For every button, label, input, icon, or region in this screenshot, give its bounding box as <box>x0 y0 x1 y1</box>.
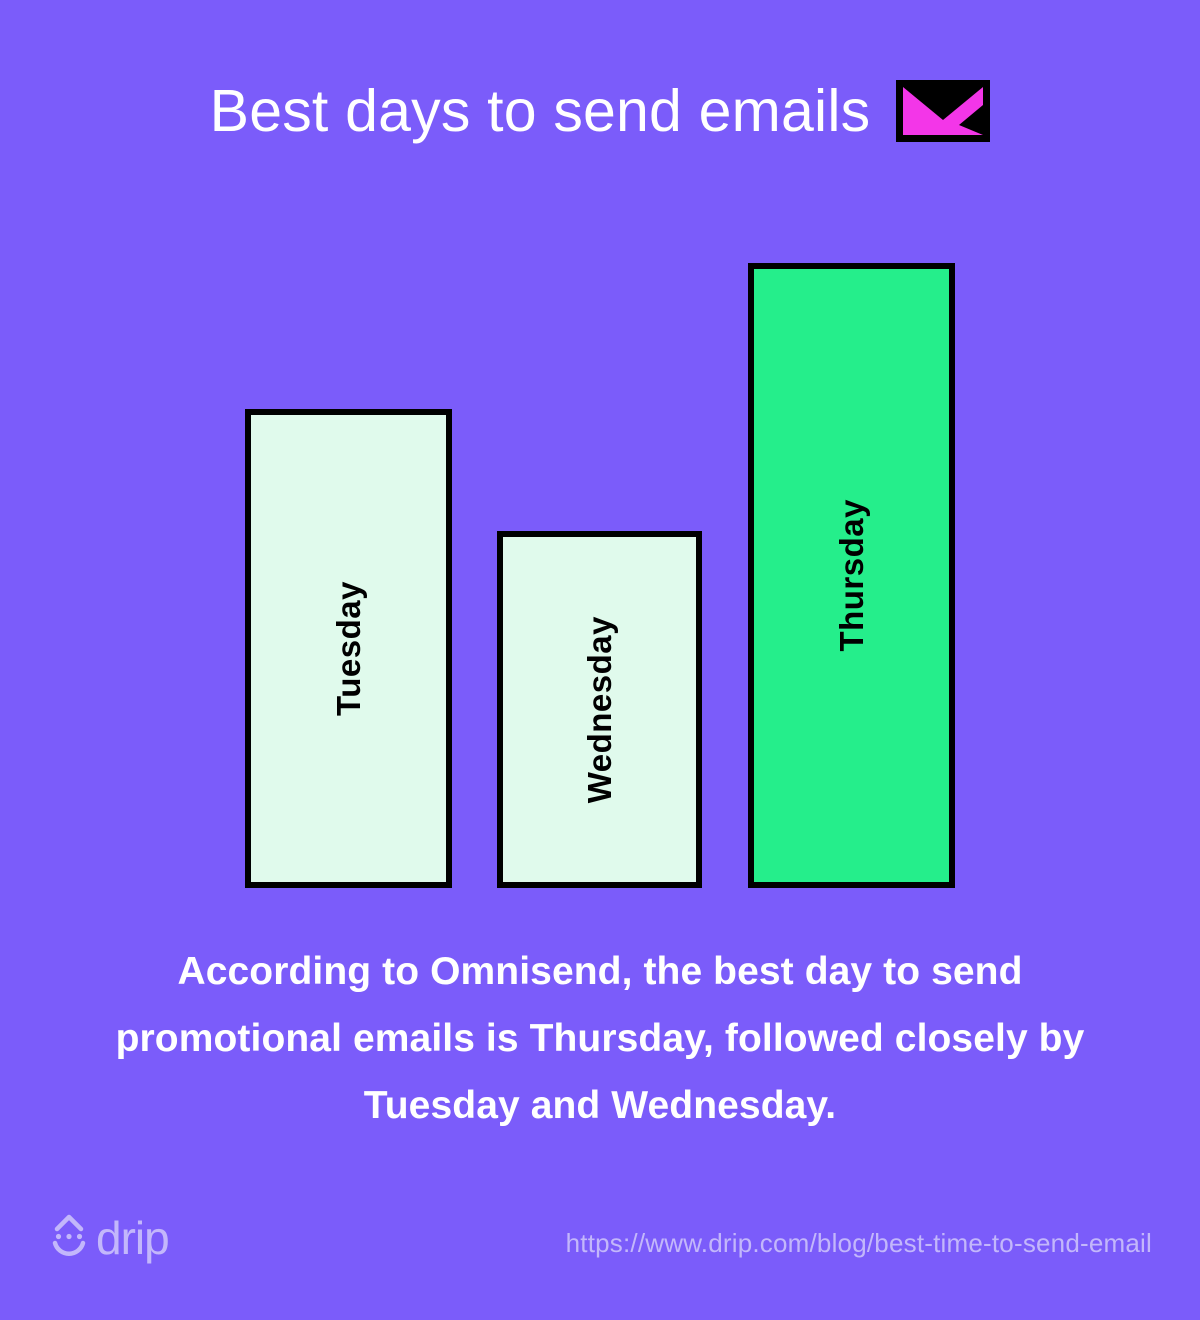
source-url[interactable]: https://www.drip.com/blog/best-time-to-s… <box>566 1228 1152 1259</box>
infographic-canvas: Best days to send emails Tuesday Wednesd… <box>0 0 1200 1320</box>
envelope-icon <box>896 80 990 142</box>
drip-droplet-smiley-icon <box>48 1214 90 1262</box>
drip-logo-text: drip <box>96 1215 169 1261</box>
header: Best days to send emails <box>0 80 1200 142</box>
bar-thursday[interactable]: Thursday <box>748 263 955 888</box>
bar-label-tuesday: Tuesday <box>332 581 365 716</box>
bar-label-wednesday: Wednesday <box>583 616 616 803</box>
drip-logo[interactable]: drip <box>48 1214 169 1262</box>
bar-label-thursday: Thursday <box>835 499 868 652</box>
caption-text: According to Omnisend, the best day to s… <box>60 938 1140 1139</box>
bar-tuesday[interactable]: Tuesday <box>245 409 452 888</box>
footer: drip https://www.drip.com/blog/best-time… <box>0 1214 1200 1284</box>
bar-wednesday[interactable]: Wednesday <box>497 531 702 888</box>
page-title: Best days to send emails <box>210 82 871 141</box>
